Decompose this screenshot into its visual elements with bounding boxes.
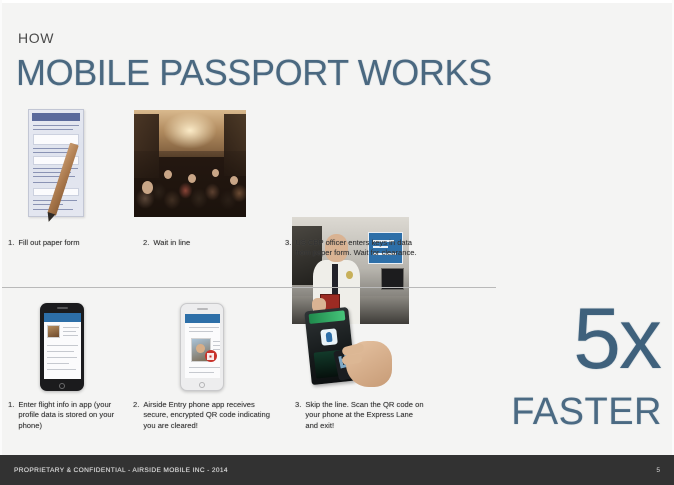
footer-legal-text: PROPRIETARY & CONFIDENTIAL - AIRSIDE MOB… xyxy=(14,467,228,474)
step-image-white-iphone xyxy=(180,303,224,391)
page-title: MOBILE PASSPORT WORKS xyxy=(16,52,492,94)
step-image-qr-scan-kiosk xyxy=(302,305,402,391)
caption-step-2-new: 2. Airside Entry phone app receives secu… xyxy=(133,400,273,431)
slide-canvas: HOW MOBILE PASSPORT WORKS 1. Fill out pa… xyxy=(0,0,674,485)
slide-kicker: HOW xyxy=(18,30,54,46)
caption-step-3-new: 3. Skip the line. Scan the QR code on yo… xyxy=(295,400,427,431)
callout-word: FASTER xyxy=(511,392,662,432)
caption-step-3-old: 3. US CBP officer enters keys in data fr… xyxy=(285,238,417,259)
callout-number: 5x xyxy=(573,296,660,382)
mobile-passport-app-icon xyxy=(320,328,338,346)
qr-code-badge-icon xyxy=(205,350,217,362)
scanner-green-light xyxy=(309,310,346,324)
slide-footer: PROPRIETARY & CONFIDENTIAL - AIRSIDE MOB… xyxy=(0,455,674,485)
officer-badge-icon xyxy=(346,271,353,280)
step-image-crowd-queue xyxy=(134,110,246,217)
caption-step-1-old: 1. Fill out paper form xyxy=(8,238,118,248)
form-header-bar xyxy=(32,113,80,121)
caption-step-1-new: 1. Enter flight info in app (your profil… xyxy=(8,400,120,431)
step-image-black-iphone xyxy=(40,303,84,391)
caption-step-2-old: 2. Wait in line xyxy=(143,238,253,248)
step-image-paper-form xyxy=(22,106,126,222)
slide-left-edge xyxy=(0,0,2,485)
footer-page-number: 5 xyxy=(656,467,660,474)
section-divider xyxy=(2,287,496,288)
slide-top-edge xyxy=(0,0,674,3)
profile-avatar xyxy=(47,325,60,338)
